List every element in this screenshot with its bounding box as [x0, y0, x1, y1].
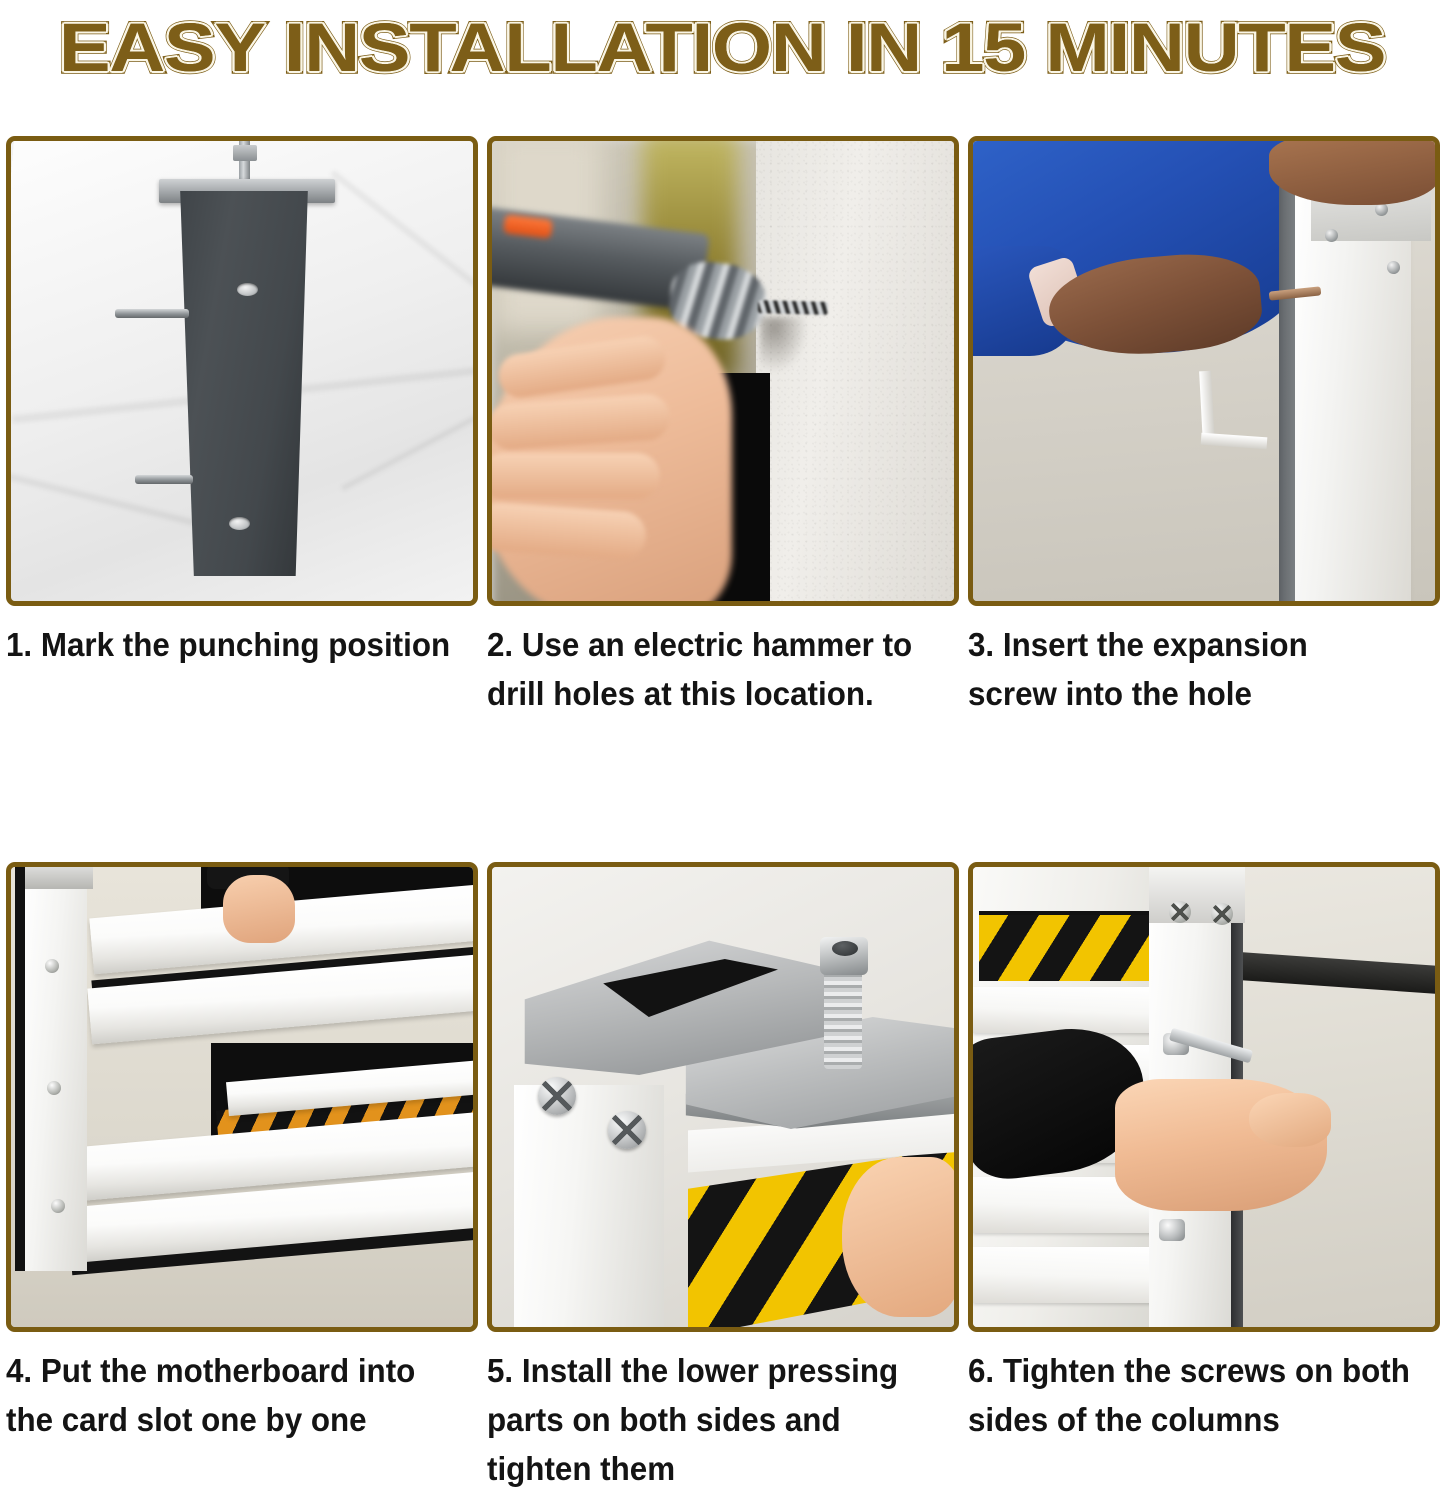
plate-screw [1325, 229, 1338, 242]
step-card-1: 1. Mark the punching position [6, 136, 478, 718]
finger [492, 453, 660, 499]
step-6-scene [973, 867, 1435, 1327]
hex-bolt-shaft [824, 959, 862, 1069]
step-3-scene [973, 141, 1435, 601]
installation-steps-grid: 1. Mark the punching position [6, 136, 1439, 1493]
step-4-scene [11, 867, 473, 1327]
step-2-photo-drill-holes [487, 136, 959, 606]
step-4-photo-motherboard-card-slot [6, 862, 478, 1332]
bracket-screw-left [1169, 901, 1191, 923]
step-1-caption: 1. Mark the punching position [6, 620, 454, 669]
phillips-screw-right [608, 1111, 646, 1149]
mounting-hole-upper [237, 283, 258, 296]
column-screw-hole [51, 1199, 65, 1213]
step-1-photo-mark-punching-position [6, 136, 478, 606]
top-bolt-nut [233, 145, 257, 161]
column-top-bracket [25, 867, 93, 889]
column-screw-hole [47, 1081, 61, 1095]
step-6-photo-tighten-column-screws [968, 862, 1440, 1332]
step-5-caption: 5. Install the lower pressing parts on b… [487, 1346, 935, 1493]
hand-placing-board [223, 875, 295, 943]
step-card-4: 4. Put the motherboard into the card slo… [6, 862, 478, 1493]
step-3-caption: 3. Insert the expansion screw into the h… [968, 620, 1416, 718]
drill-dust [760, 317, 808, 373]
step-5-photo-lower-pressing-parts [487, 862, 959, 1332]
step-card-2: 2. Use an electric hammer to drill holes… [487, 136, 959, 718]
step-1-scene [11, 141, 473, 601]
step-6-caption: 6. Tighten the screws on both sides of t… [968, 1346, 1416, 1444]
bracket-screw-right [1211, 903, 1233, 925]
board-row [973, 987, 1155, 1033]
hazard-stripe-board [979, 915, 1151, 981]
plate-screw [1387, 261, 1400, 274]
steps-row-top: 1. Mark the punching position [6, 136, 1439, 718]
thumb [1249, 1093, 1331, 1147]
step-2-scene [492, 141, 954, 601]
step-5-scene [492, 867, 954, 1327]
side-pin-lower [135, 475, 193, 484]
step-card-6: 6. Tighten the screws on both sides of t… [968, 862, 1440, 1493]
column-side-bolt-lower [1159, 1219, 1185, 1241]
white-column-post [1295, 187, 1411, 601]
plate-screw [1375, 203, 1388, 216]
page-title: EASY INSTALLATION IN 15 MINUTES [59, 12, 1385, 84]
step-3-photo-insert-expansion-screw [968, 136, 1440, 606]
mounting-hole-lower [229, 517, 250, 530]
masonry-drill-bit [758, 300, 828, 315]
step-card-3: 3. Insert the expansion screw into the h… [968, 136, 1440, 718]
finger-supporting-board [842, 1157, 954, 1317]
step-card-5: 5. Install the lower pressing parts on b… [487, 862, 959, 1493]
hex-bolt-socket [832, 941, 858, 956]
board-row [973, 1247, 1155, 1303]
side-pin-upper [115, 309, 189, 318]
step-4-caption: 4. Put the motherboard into the card slo… [6, 1346, 454, 1444]
steps-row-bottom: 4. Put the motherboard into the card slo… [6, 862, 1439, 1493]
step-2-caption: 2. Use an electric hammer to drill holes… [487, 620, 935, 718]
column-screw-hole [45, 959, 59, 973]
page-title-bar: EASY INSTALLATION IN 15 MINUTES [0, 0, 1445, 96]
phillips-screw-left [538, 1077, 576, 1115]
